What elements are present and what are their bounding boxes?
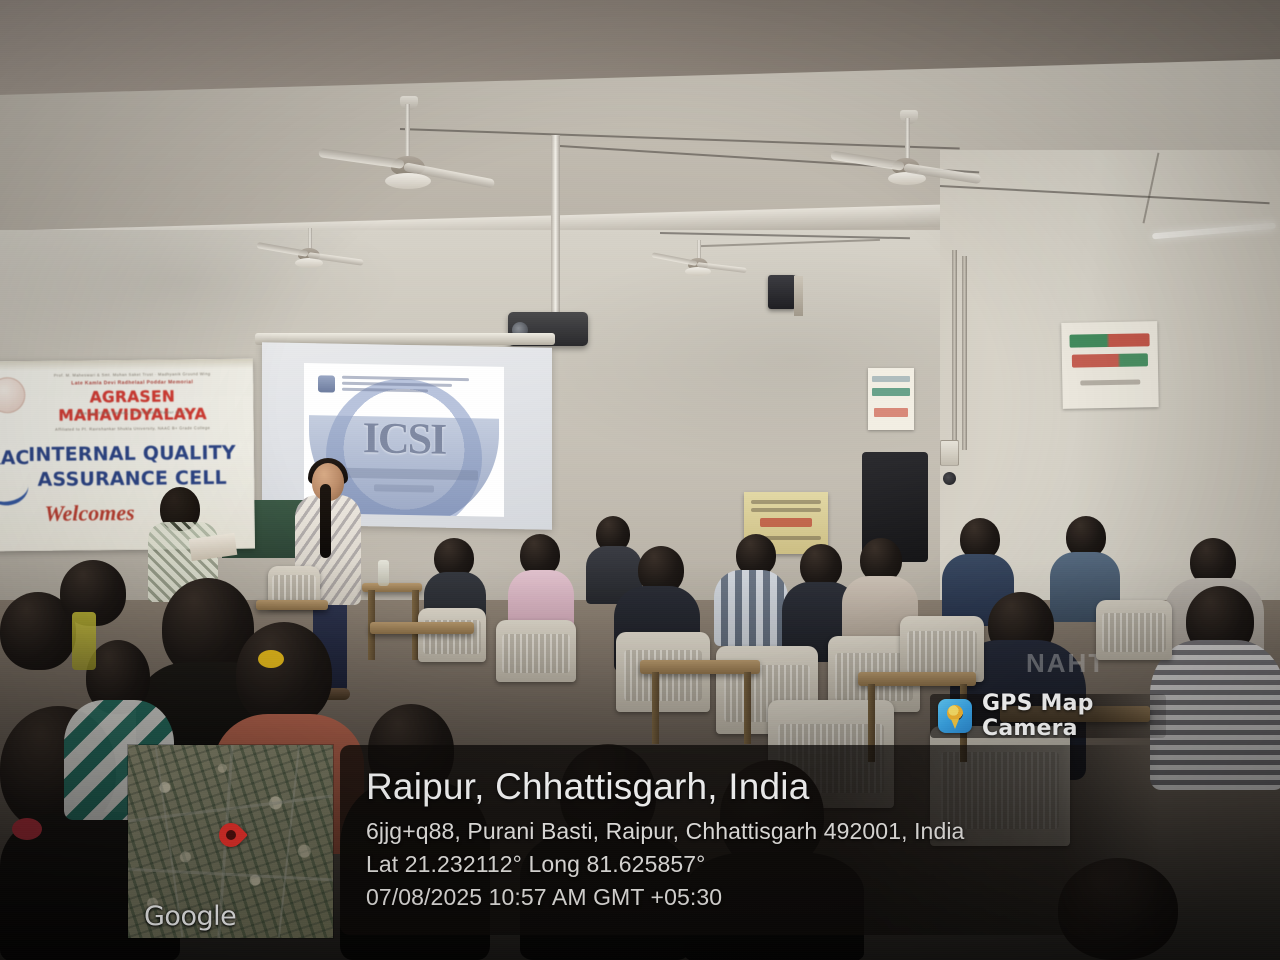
- map-road: [128, 868, 333, 882]
- small-wall-poster: [868, 368, 914, 430]
- poster-line-c: [874, 408, 908, 417]
- wall-conduit: [952, 250, 957, 450]
- fan-rod: [405, 104, 410, 160]
- notice-line: [751, 508, 821, 512]
- gps-map-thumbnail[interactable]: Google: [128, 745, 333, 938]
- gps-address: 6jjg+q88, Purani Basti, Raipur, Chhattis…: [366, 818, 964, 845]
- map-road: [278, 745, 300, 937]
- camera-pin-icon: [938, 699, 972, 733]
- wall-speaker-bracket: [794, 276, 803, 316]
- watermark-label: GPS Map Camera: [982, 691, 1166, 741]
- wall-conduit: [962, 256, 967, 450]
- gps-map-camera-watermark: GPS Map Camera: [930, 694, 1166, 738]
- gps-timestamp: 07/08/2025 10:57 AM GMT +05:30: [366, 884, 722, 911]
- projector-mount-pole: [551, 135, 560, 315]
- poster-hindi-line-3: [1080, 379, 1140, 385]
- gps-location-title: Raipur, Chhattisgarh, India: [366, 766, 1156, 808]
- gps-coordinates: Lat 21.232112° Long 81.625857°: [366, 851, 705, 878]
- map-pin-icon: [214, 818, 248, 852]
- poster-hindi-line-1: [1069, 333, 1149, 347]
- notice-highlight: [760, 518, 812, 527]
- wall-switchboard: [940, 440, 959, 466]
- banner-blur-layer: [0, 359, 255, 552]
- wall-speaker: [768, 275, 796, 309]
- hindi-wall-poster: [1061, 321, 1158, 409]
- wall-socket-icon: [943, 472, 956, 485]
- institute-emblem-icon: [318, 375, 335, 392]
- map-road: [129, 795, 333, 823]
- google-attribution: Google: [144, 901, 236, 932]
- fan-rod: [905, 118, 910, 162]
- slide-subtitle-bar-2: [374, 484, 434, 492]
- poster-line-b: [872, 388, 910, 396]
- notice-line: [751, 500, 821, 504]
- slide-logo-text: ICSI: [304, 411, 504, 466]
- poster-hindi-line-2: [1072, 353, 1148, 367]
- presenter-braid: [320, 484, 331, 558]
- event-banner: Prof. M. Maheswari & Smt. Mohan Saket Tr…: [0, 359, 255, 552]
- photo-screenshot: ICSI Prof. M. Maheswari & Smt. Mohan Sak…: [0, 0, 1280, 960]
- fan-cap: [385, 173, 431, 189]
- poster-line-a: [872, 376, 910, 382]
- slide-heading-lines: [342, 376, 490, 405]
